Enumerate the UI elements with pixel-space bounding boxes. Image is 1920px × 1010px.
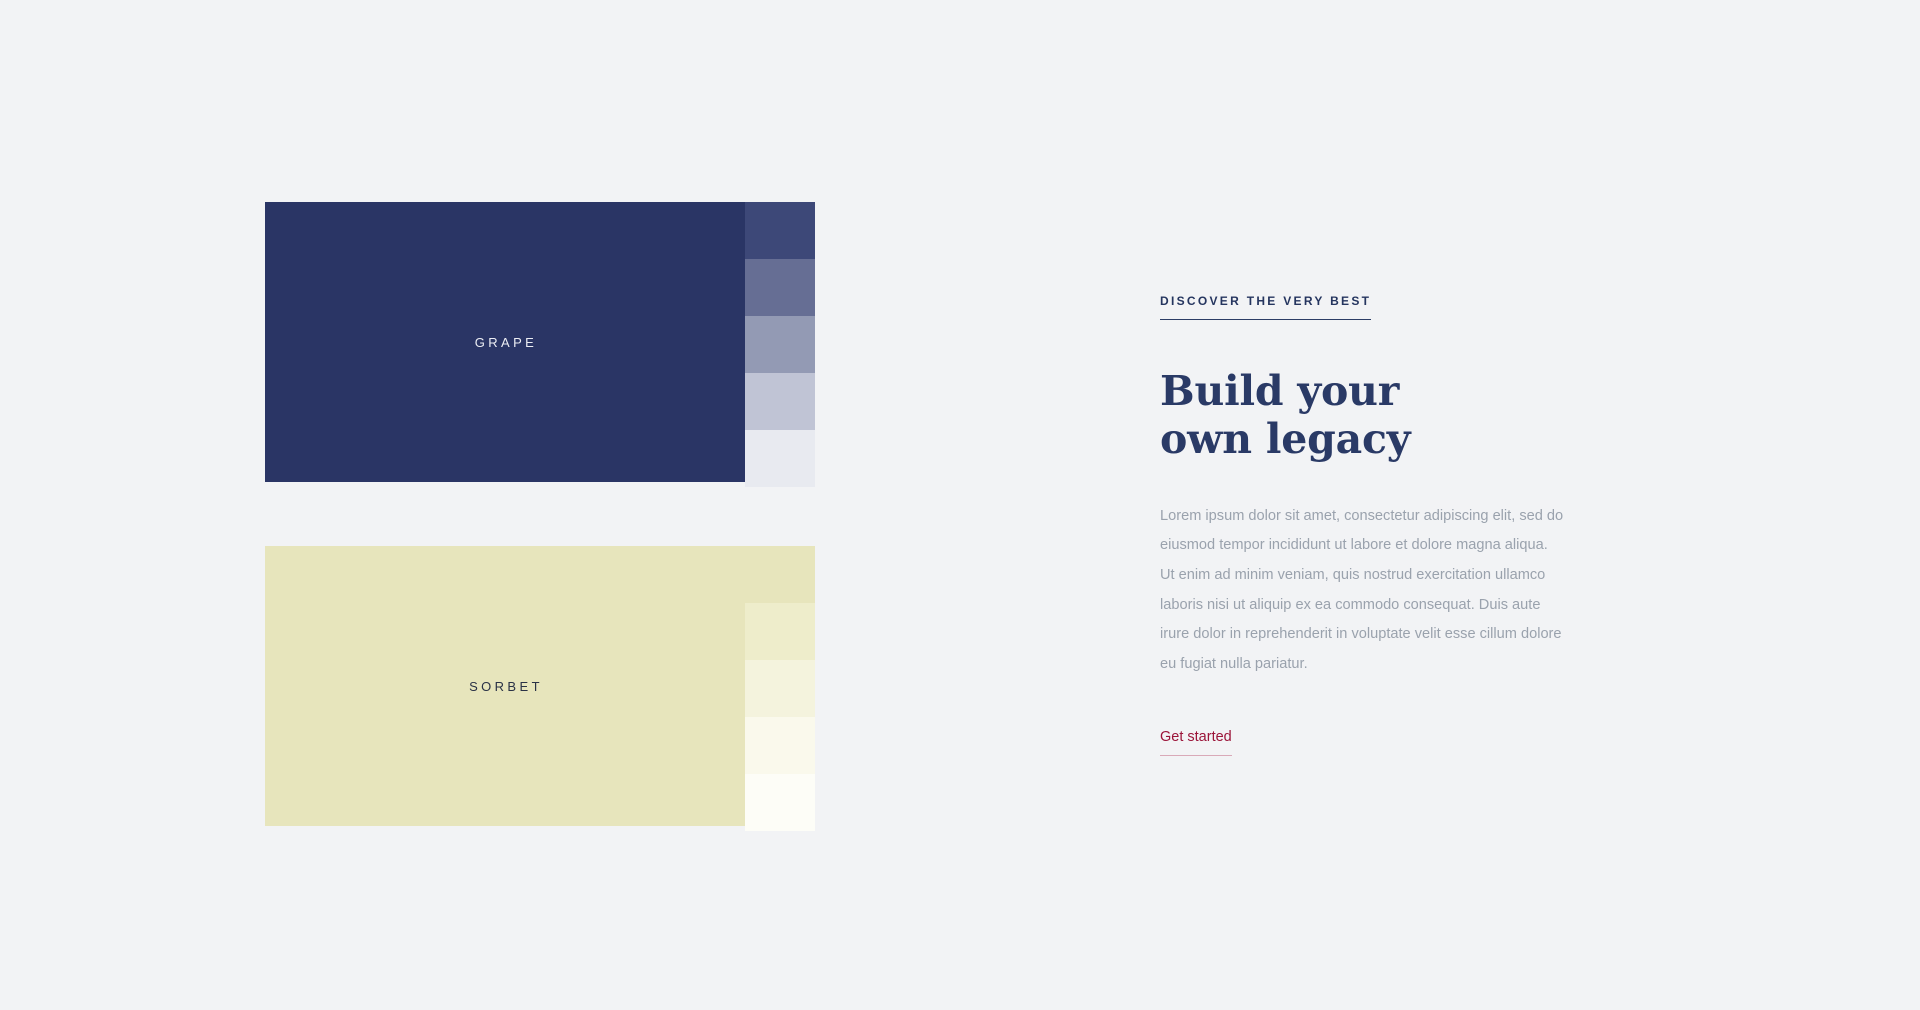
page-root: GRAPE SORBET DIS (0, 0, 1920, 1010)
tint-swatch-sorbet-4[interactable] (745, 717, 815, 774)
swatch-card-sorbet[interactable]: SORBET (265, 546, 815, 826)
eyebrow-heading: DISCOVER THE VERY BEST (1160, 294, 1371, 320)
tint-swatch-sorbet-2[interactable] (745, 603, 815, 660)
body-paragraph: Lorem ipsum dolor sit amet, consectetur … (1160, 502, 1564, 680)
tint-swatch-sorbet-1[interactable] (745, 546, 815, 603)
tint-swatch-grape-5[interactable] (745, 430, 815, 487)
content-column: DISCOVER THE VERY BEST Build your own le… (1160, 292, 1580, 756)
tint-swatch-grape-1[interactable] (745, 202, 815, 259)
swatch-card-grape[interactable]: GRAPE (265, 202, 815, 482)
swatch-base-sorbet[interactable]: SORBET (265, 546, 747, 826)
swatch-label-grape: GRAPE (475, 335, 538, 350)
cta-wrapper: Get started (1160, 728, 1232, 756)
page-title: Build your own legacy (1160, 367, 1460, 464)
palette-column: GRAPE SORBET (265, 202, 815, 826)
tint-swatch-sorbet-3[interactable] (745, 660, 815, 717)
tint-strip-grape (745, 202, 815, 487)
tint-swatch-grape-4[interactable] (745, 373, 815, 430)
tint-swatch-grape-2[interactable] (745, 259, 815, 316)
tint-swatch-grape-3[interactable] (745, 316, 815, 373)
get-started-link[interactable]: Get started (1160, 729, 1232, 756)
swatch-label-sorbet: SORBET (469, 679, 543, 694)
tint-strip-sorbet (745, 546, 815, 831)
tint-swatch-sorbet-5[interactable] (745, 774, 815, 831)
swatch-base-grape[interactable]: GRAPE (265, 202, 747, 482)
